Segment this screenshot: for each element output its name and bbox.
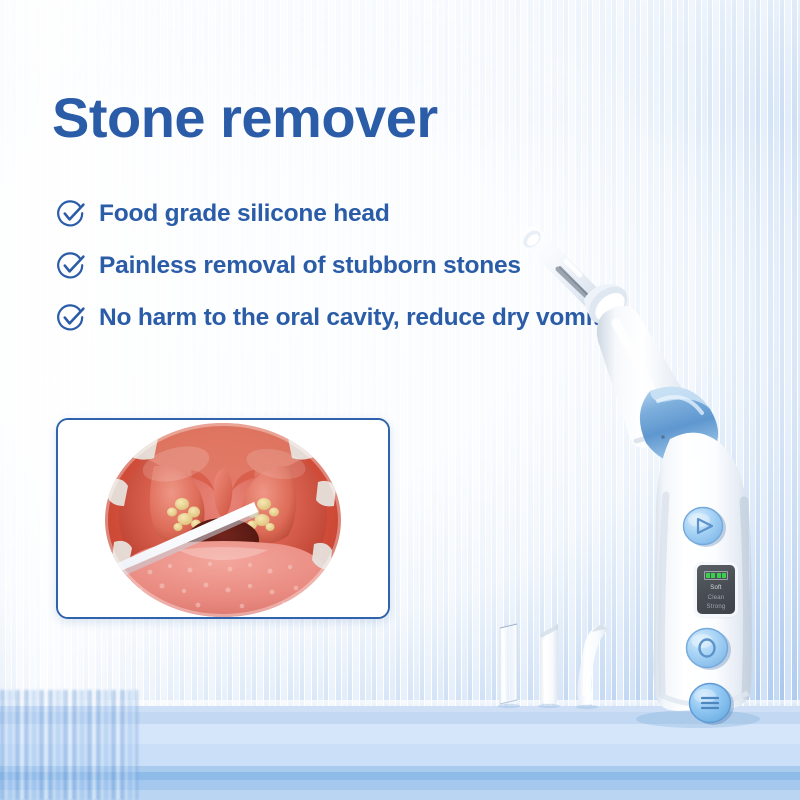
page-title: Stone remover <box>52 85 438 150</box>
device-illustration <box>500 195 800 730</box>
battery-bar <box>711 573 715 578</box>
battery-bar <box>722 573 726 578</box>
battery-indicator <box>704 571 728 580</box>
check-circle-icon <box>56 199 86 229</box>
mode-clean: Clean <box>697 594 735 604</box>
lcd-display: Soft Clean Strong <box>697 565 735 614</box>
feature-label: Painless removal of stubborn stones <box>99 252 521 280</box>
throat-illustration-card <box>56 418 390 619</box>
check-circle-icon <box>56 303 86 333</box>
battery-bar <box>706 573 710 578</box>
mode-indicator-list: Soft Clean Strong <box>697 584 735 613</box>
mode-strong: Strong <box>697 603 735 613</box>
battery-bar <box>717 573 721 578</box>
product-poster: Stone remover Food grade silicone head P… <box>0 0 800 800</box>
check-circle-icon <box>56 251 86 281</box>
mode-soft: Soft <box>697 584 735 594</box>
surface-stripe-overlay <box>0 690 138 800</box>
feature-label: Food grade silicone head <box>99 200 390 228</box>
